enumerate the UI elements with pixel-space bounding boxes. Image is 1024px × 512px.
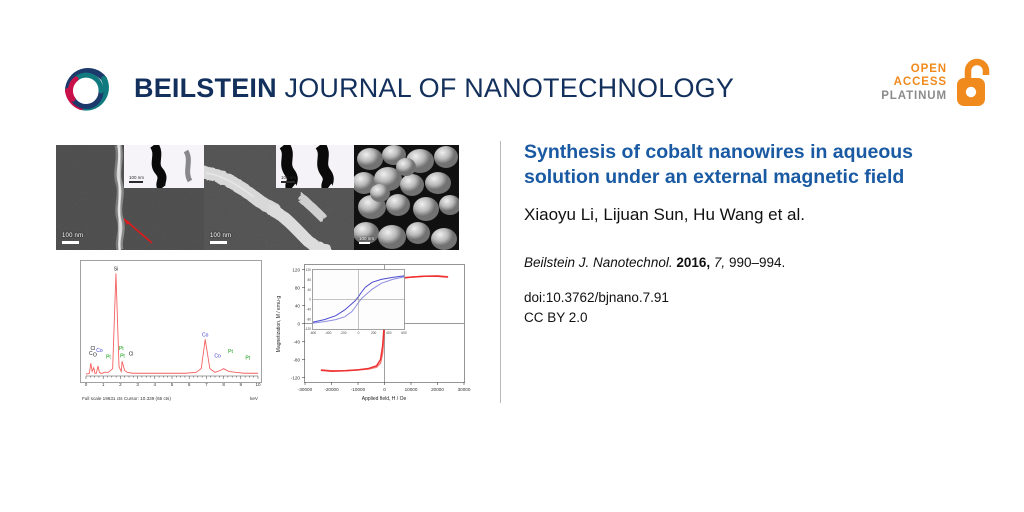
license-label[interactable]: CC BY 2.0: [524, 308, 974, 328]
svg-text:600: 600: [401, 331, 407, 335]
svg-text:Pt: Pt: [106, 354, 111, 360]
svg-text:20000: 20000: [431, 387, 444, 392]
svg-text:Cl: Cl: [129, 352, 134, 358]
logo-brand-bold: BEILSTEIN: [134, 73, 277, 103]
magnetization-yaxis-label: Magnetization, M / emu·g: [276, 296, 282, 353]
svg-text:-600: -600: [310, 331, 317, 335]
open-padlock-icon: [954, 58, 996, 108]
sem-inset-branched-nanowires: 100 nm: [276, 145, 354, 188]
svg-text:4: 4: [154, 382, 157, 387]
svg-text:6: 6: [188, 382, 191, 387]
svg-text:Co: Co: [214, 354, 221, 360]
open-access-badge[interactable]: OPEN ACCESS PLATINUM: [881, 58, 996, 108]
svg-text:120: 120: [292, 267, 300, 272]
svg-text:0: 0: [309, 298, 311, 302]
svg-text:10000: 10000: [405, 387, 418, 392]
svg-text:Pt: Pt: [120, 354, 125, 360]
svg-text:40: 40: [307, 288, 311, 292]
svg-text:3: 3: [136, 382, 139, 387]
svg-text:Cl: Cl: [91, 346, 96, 352]
magnetization-chart: -30000-20000-100000100002000030000 12080…: [272, 260, 474, 404]
svg-text:8: 8: [222, 382, 225, 387]
inset-scale-bar-1: 100 nm: [129, 175, 144, 183]
magnetization-xaxis-label: Applied field, H / Oe: [362, 396, 407, 402]
open-access-line3: PLATINUM: [881, 90, 947, 104]
svg-text:80: 80: [307, 278, 311, 282]
citation-volume: 7,: [714, 255, 725, 270]
article-metadata: Synthesis of cobalt nanowires in aqueous…: [524, 140, 974, 329]
open-access-label: OPEN ACCESS PLATINUM: [881, 63, 947, 104]
inset-scale-bar-2: 100 nm: [281, 175, 296, 183]
svg-text:Pt: Pt: [228, 349, 233, 355]
svg-text:30000: 30000: [458, 387, 471, 392]
svg-text:-30000: -30000: [298, 387, 313, 392]
doi-block: doi:10.3762/bjnano.7.91 CC BY 2.0: [524, 288, 974, 329]
svg-text:0: 0: [85, 382, 88, 387]
scale-bar-panel-1: 100 nm: [62, 233, 83, 244]
svg-text:-120: -120: [291, 375, 301, 380]
svg-text:400: 400: [386, 331, 392, 335]
sem-figure-strip: 100 nm 100 nm: [56, 145, 459, 250]
svg-text:0: 0: [383, 387, 386, 392]
eds-xaxis-label: keV: [250, 396, 259, 401]
svg-text:-400: -400: [325, 331, 332, 335]
author-list: Xiaoyu Li, Lijuan Sun, Hu Wang et al.: [524, 205, 974, 225]
scale-bar-panel-2: 100 nm: [210, 233, 231, 244]
article-cover-page: BEILSTEIN JOURNAL OF NANOTECHNOLOGY OPEN…: [0, 0, 1024, 512]
svg-text:10: 10: [255, 382, 261, 387]
open-access-line2: ACCESS: [881, 76, 947, 90]
svg-text:Co: Co: [202, 332, 209, 338]
citation-journal: Beilstein J. Nanotechnol.: [524, 255, 673, 270]
svg-text:200: 200: [371, 331, 377, 335]
svg-text:120: 120: [306, 268, 312, 272]
citation-line: Beilstein J. Nanotechnol. 2016, 7, 990–9…: [524, 255, 974, 270]
logo-brand-rest: JOURNAL OF NANOTECHNOLOGY: [277, 73, 734, 103]
svg-text:-10000: -10000: [351, 387, 366, 392]
citation-year: 2016,: [676, 255, 710, 270]
svg-text:0: 0: [358, 331, 360, 335]
svg-text:-40: -40: [293, 339, 300, 344]
eds-plot-area: SiCClOCoPtPtPtClCoCoPtPt 012345678910 Fu…: [80, 260, 268, 404]
svg-text:Pt: Pt: [119, 346, 124, 352]
svg-text:40: 40: [295, 303, 301, 308]
svg-text:Co: Co: [96, 348, 103, 354]
doi-link[interactable]: doi:10.3762/bjnano.7.91: [524, 288, 974, 308]
sem-panel-single-nanowire: 100 nm 100 nm: [56, 145, 204, 250]
svg-text:-80: -80: [306, 317, 311, 321]
journal-logo-text: BEILSTEIN JOURNAL OF NANOTECHNOLOGY: [134, 73, 734, 104]
page-header: BEILSTEIN JOURNAL OF NANOTECHNOLOGY OPEN…: [0, 0, 1024, 132]
citation-pages: 990–994.: [729, 255, 785, 270]
svg-text:0: 0: [297, 321, 300, 326]
svg-text:-20000: -20000: [324, 387, 339, 392]
svg-text:Pt: Pt: [245, 355, 250, 361]
magnetization-plot-area: -30000-20000-100000100002000030000 12080…: [272, 260, 474, 404]
svg-text:-40: -40: [306, 308, 311, 312]
svg-text:-80: -80: [293, 357, 300, 362]
eds-spectrum-chart: SiCClOCoPtPtPtClCoCoPtPt 012345678910 Fu…: [80, 260, 268, 404]
svg-text:5: 5: [171, 382, 174, 387]
sem-panel-particle-cluster: 100 nm: [354, 145, 459, 250]
beilstein-spiral-logo-icon: [56, 57, 118, 119]
sem-inset-single-nanowire: 100 nm: [124, 145, 204, 188]
svg-text:9: 9: [240, 382, 243, 387]
column-divider: [500, 141, 501, 403]
sem-panel-branched-nanowires: 100 nm 100 nm: [204, 145, 354, 250]
svg-text:Si: Si: [114, 266, 118, 272]
svg-text:-200: -200: [340, 331, 347, 335]
scale-bar-panel-3: 100 nm: [359, 236, 374, 244]
eds-caption: Full scale 19631 cts Cursor: 10.339 (65 …: [82, 396, 171, 401]
svg-text:-120: -120: [305, 327, 312, 331]
svg-text:2: 2: [119, 382, 122, 387]
journal-logo[interactable]: BEILSTEIN JOURNAL OF NANOTECHNOLOGY: [56, 57, 734, 119]
page-title[interactable]: Synthesis of cobalt nanowires in aqueous…: [524, 140, 974, 189]
svg-text:7: 7: [205, 382, 208, 387]
svg-text:80: 80: [295, 285, 301, 290]
svg-text:1: 1: [102, 382, 105, 387]
open-access-line1: OPEN: [881, 63, 947, 77]
